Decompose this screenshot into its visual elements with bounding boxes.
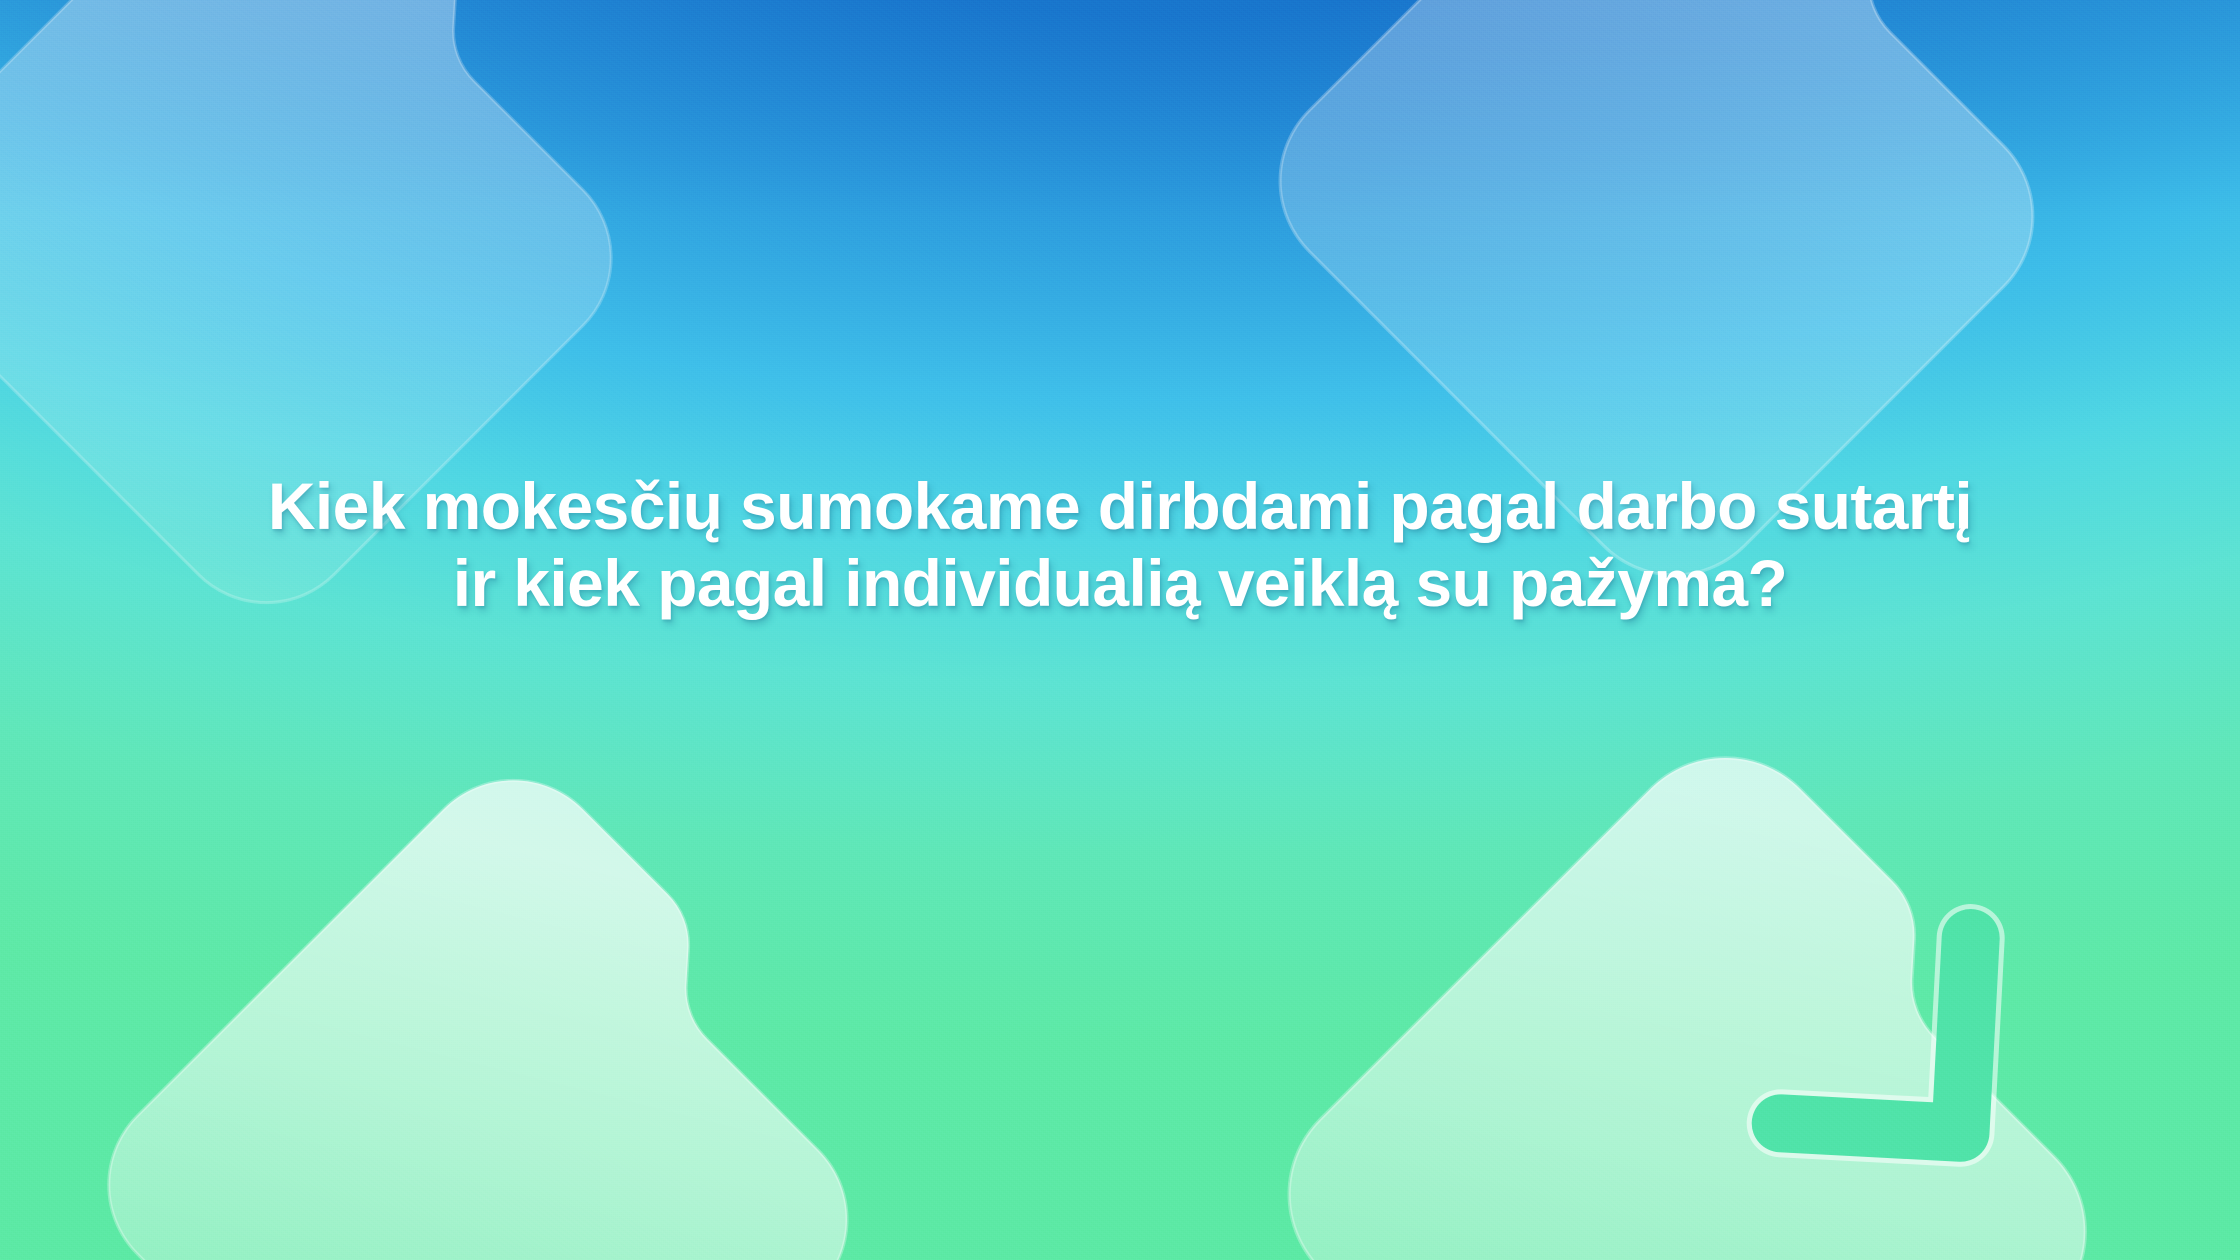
title-block: Kiek mokesčių sumokame dirbdami pagal da… bbox=[0, 468, 2240, 622]
background-texture bbox=[0, 0, 2240, 1260]
title-slide: Kiek mokesčių sumokame dirbdami pagal da… bbox=[0, 0, 2240, 1260]
page-title: Kiek mokesčių sumokame dirbdami pagal da… bbox=[0, 468, 2240, 622]
